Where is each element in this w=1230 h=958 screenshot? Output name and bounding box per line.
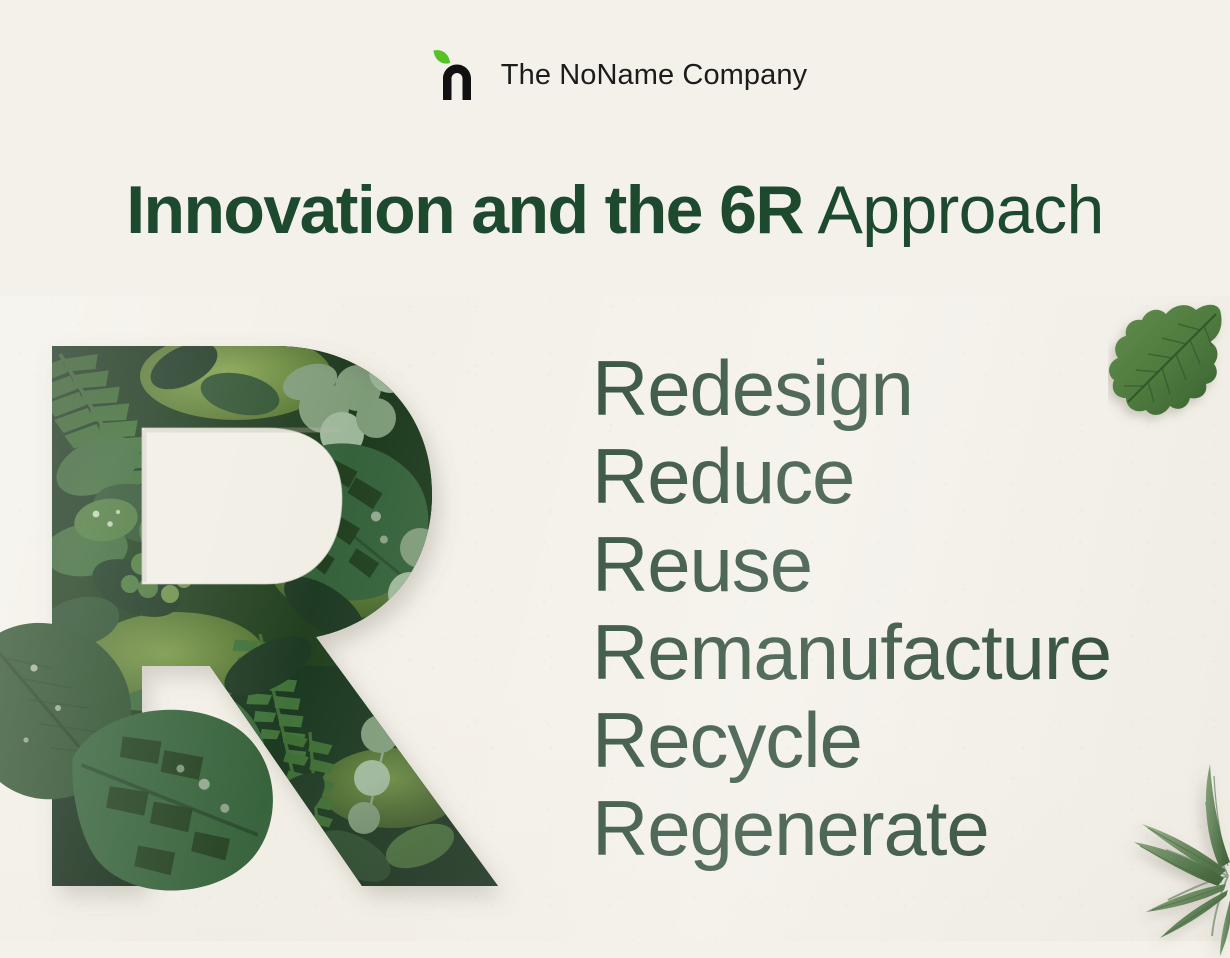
- brand-header: The NoName Company: [0, 44, 1230, 106]
- brand-name-label: The NoName Company: [501, 59, 807, 92]
- list-item-remanufacture: Remanufacture: [592, 608, 1192, 696]
- content-panel: Redesign Reduce Reuse Remanufacture Recy…: [0, 296, 1230, 941]
- leaf-sprout-n-logo-icon: [423, 44, 485, 106]
- page-title-light: Approach: [803, 172, 1104, 248]
- list-item-reuse: Reuse: [592, 520, 1192, 608]
- page-title-bold: Innovation and the 6R: [126, 172, 803, 248]
- page-title: Innovation and the 6R Approach: [0, 172, 1230, 248]
- list-item-regenerate: Regenerate: [592, 784, 1192, 872]
- list-item-recycle: Recycle: [592, 696, 1192, 784]
- list-item-reduce: Reduce: [592, 432, 1192, 520]
- slide-canvas: The NoName Company Innovation and the 6R…: [0, 0, 1230, 958]
- list-item-redesign: Redesign: [592, 344, 1192, 432]
- foliage-letter-r-graphic: [24, 336, 524, 896]
- six-r-list: Redesign Reduce Reuse Remanufacture Recy…: [592, 344, 1192, 872]
- letter-r-counter: [142, 428, 342, 584]
